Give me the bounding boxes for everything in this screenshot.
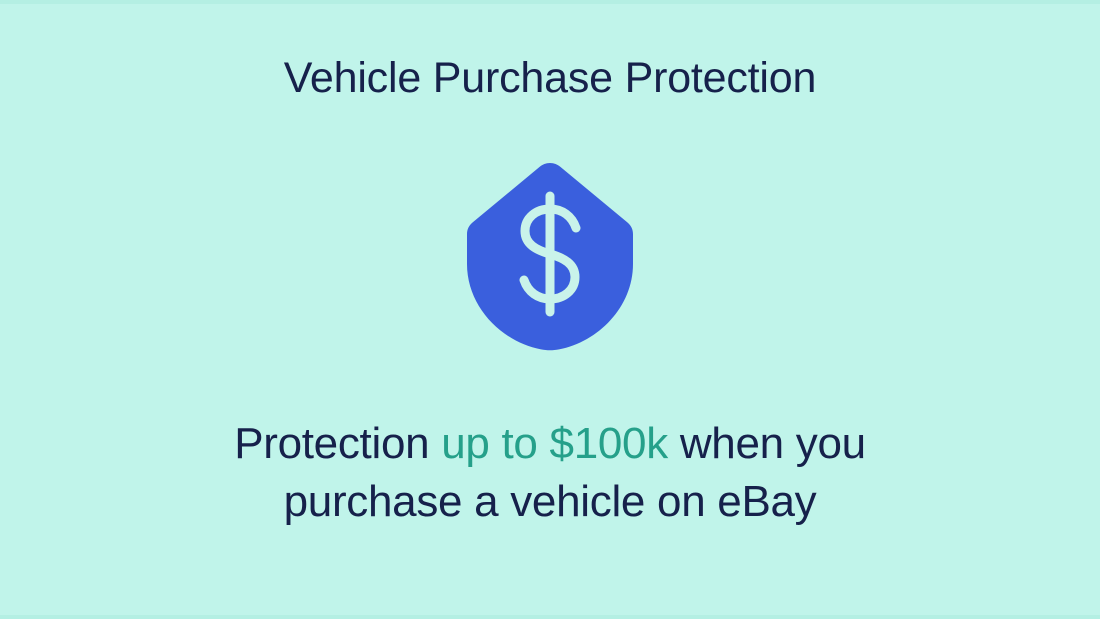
bottom-letterbox-band [0,615,1100,619]
headline-text-after: when you [668,419,866,468]
shield-badge [464,160,636,352]
top-letterbox-band [0,0,1100,4]
page-title: Vehicle Purchase Protection [0,50,1100,106]
promo-slide: Vehicle Purchase Protection Protection u… [0,0,1100,619]
headline-text-before: Protection [234,419,441,468]
headline-line-2: purchase a vehicle on eBay [0,473,1100,531]
shield-dollar-icon [464,160,636,352]
headline-line-1: Protection up to $100k when you [0,415,1100,473]
headline: Protection up to $100k when you purchase… [0,415,1100,531]
headline-accent-amount: up to $100k [441,419,668,468]
